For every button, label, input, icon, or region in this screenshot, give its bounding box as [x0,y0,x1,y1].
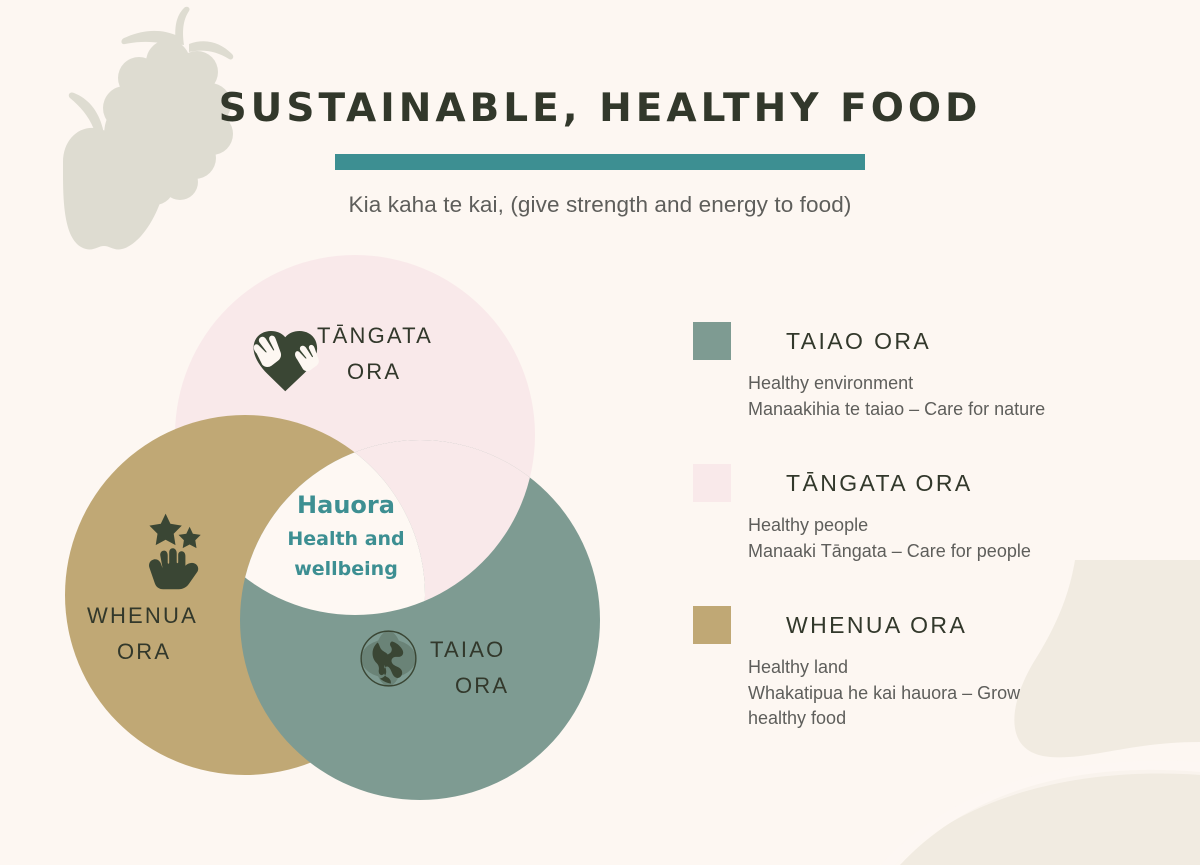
venn-label-tangata-line1: TĀNGATA [317,323,433,348]
legend-swatch-taiao [693,322,731,360]
legend-head: TAIAO ORA [693,322,1153,360]
legend-entry-tangata[interactable]: TĀNGATA ORA Healthy people Manaaki Tānga… [693,464,1153,564]
legend-line3: healthy food [748,706,1153,732]
globe-icon [361,631,416,686]
legend-line2: Whakatipua he kai hauora – Grow [748,681,1153,707]
venn-label-taiao-line1: TAIAO [430,637,505,662]
legend-body-taiao: Healthy environment Manaakihia te taiao … [748,371,1153,422]
legend-head: TĀNGATA ORA [693,464,1153,502]
legend-swatch-whenua [693,606,731,644]
legend: TAIAO ORA Healthy environment Manaakihia… [693,322,1153,732]
legend-line1: Healthy land [748,655,1153,681]
legend-title-whenua: WHENUA ORA [786,612,967,639]
venn-center-line2: wellbeing [294,558,398,580]
legend-entry-whenua[interactable]: WHENUA ORA Healthy land Whakatipua he ka… [693,606,1153,732]
legend-body-whenua: Healthy land Whakatipua he kai hauora – … [748,655,1153,732]
venn-label-tangata-line2: ORA [347,359,401,384]
legend-entry-taiao[interactable]: TAIAO ORA Healthy environment Manaakihia… [693,322,1153,422]
legend-line2: Manaaki Tāngata – Care for people [748,539,1153,565]
page-subtitle: Kia kaha te kai, (give strength and ener… [0,192,1200,218]
venn-center-heading: Hauora [297,491,395,519]
legend-title-taiao: TAIAO ORA [786,328,931,355]
legend-line1: Healthy people [748,513,1153,539]
venn-label-taiao-line2: ORA [455,673,509,698]
legend-head: WHENUA ORA [693,606,1153,644]
venn-center-line1: Health and [287,528,404,550]
page-title: SUSTAINABLE, HEALTHY FOOD [0,88,1200,131]
venn-label-whenua-line2: ORA [117,639,171,664]
venn-diagram: TĀNGATA ORA WHENUA ORA TAIAO ORA Hauora … [55,245,675,805]
legend-line1: Healthy environment [748,371,1153,397]
header: SUSTAINABLE, HEALTHY FOOD Kia kaha te ka… [0,88,1200,218]
legend-line2: Manaakihia te taiao – Care for nature [748,397,1153,423]
title-accent-rule [335,154,865,170]
venn-label-whenua-line1: WHENUA [87,603,198,628]
legend-swatch-tangata [693,464,731,502]
legend-body-tangata: Healthy people Manaaki Tāngata – Care fo… [748,513,1153,564]
legend-title-tangata: TĀNGATA ORA [786,470,973,497]
